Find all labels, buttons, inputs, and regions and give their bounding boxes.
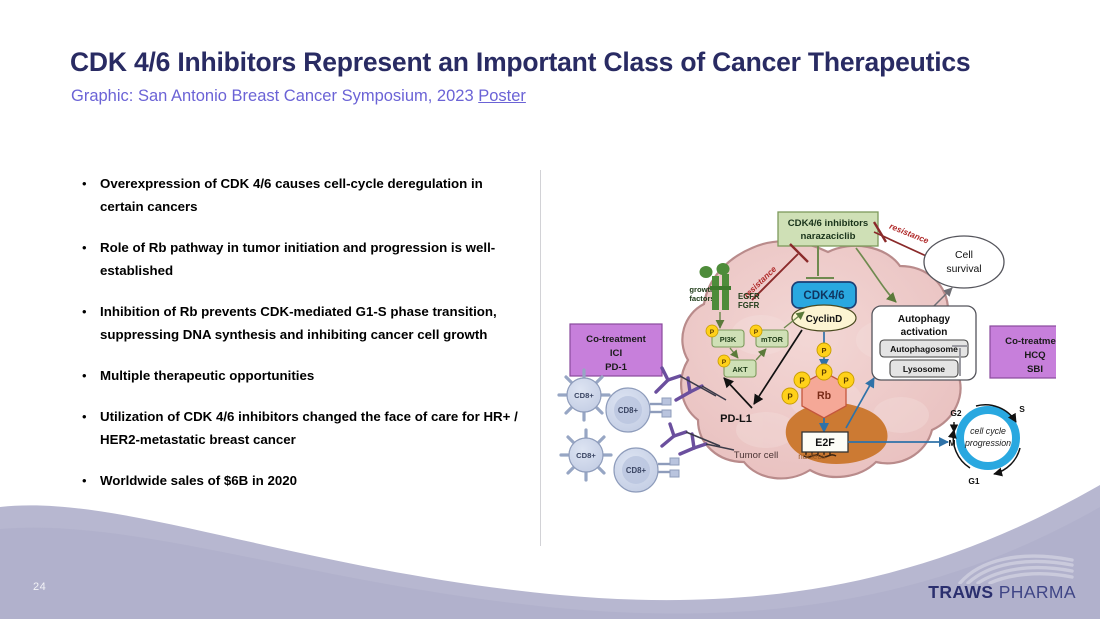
cotreatment-right-line2: HCQ [1024,350,1046,361]
bullet-marker-icon: • [78,364,100,387]
subtitle-text: Graphic: San Antonio Breast Cancer Sympo… [71,87,478,105]
list-item: • Worldwide sales of $6B in 2020 [78,469,518,492]
nucleus-label: nucleus [798,452,826,461]
cdk46-node: CDK4/6 [792,282,856,308]
cotreatment-right-box: Co-treatment HCQ SBI [990,326,1056,378]
phospho-label: P [822,346,827,355]
receptor-line1: EGFR [738,292,760,301]
list-item: • Inhibition of Rb prevents CDK-mediated… [78,300,518,346]
bullet-list: • Overexpression of CDK 4/6 causes cell-… [78,172,518,510]
phase-s-label: S [1019,404,1025,414]
mtor-label: mTOR [761,335,784,344]
inhibitor-box-line1: CDK4/6 inhibitors [788,218,869,229]
pdl1-label: PD-L1 [720,413,752,425]
list-item: • Role of Rb pathway in tumor initiation… [78,236,518,282]
cell-survival-line2: survival [946,264,981,275]
rb-label: Rb [817,390,832,402]
page-number: 24 [33,581,46,593]
cotreatment-left-line1: Co-treatment [586,334,647,345]
list-item: • Overexpression of CDK 4/6 causes cell-… [78,172,518,218]
bullet-text: Inhibition of Rb prevents CDK-mediated G… [100,300,518,346]
phase-g1-label: G1 [968,476,980,486]
tcell-4: CD8+ [614,448,679,492]
bullet-text: Overexpression of CDK 4/6 causes cell-cy… [100,172,518,218]
cell-survival-line1: Cell [955,250,973,261]
list-item: • Utilization of CDK 4/6 inhibitors chan… [78,405,518,451]
phase-m-label: M [949,438,956,448]
receptor-line2: FGFR [738,301,760,310]
akt-label: AKT [732,365,748,374]
logo-swoosh-icon [954,552,1076,584]
cotreatment-left-line2: ICI [610,348,623,359]
phospho-label: P [754,329,759,336]
page-title: CDK 4/6 Inhibitors Represent an Importan… [70,47,970,78]
list-item: • Multiple therapeutic opportunities [78,364,518,387]
bullet-marker-icon: • [78,300,100,323]
phospho-on-cyclind-rb-axis: P [817,343,831,357]
cell-survival-node: Cell survival [924,236,1004,288]
lysosome-label: Lysosome [903,364,945,374]
phospho-label: P [821,369,827,378]
cdk46-label: CDK4/6 [803,289,845,302]
bullet-marker-icon: • [78,405,100,428]
tcell-label: CD8+ [574,391,594,400]
cell-cycle-progression: cell cycle progression G2 M G1 S [949,404,1026,486]
phase-g2-label: G2 [950,408,962,418]
phospho-label: P [799,377,805,386]
autophagosome-label: Autophagosome [890,344,958,354]
cotreatment-left-box: Co-treatment ICI PD-1 [570,324,662,376]
phospho-label: P [843,377,849,386]
bullet-marker-icon: • [78,236,100,259]
bullet-text: Multiple therapeutic opportunities [100,364,518,387]
bullet-marker-icon: • [78,172,100,195]
cellcycle-line2: progression [964,438,1011,448]
cyclind-label: CyclinD [806,314,842,325]
tcell-3: CD8+ [561,430,611,480]
content-divider [540,170,541,546]
tcell-label: CD8+ [576,451,596,460]
bullet-marker-icon: • [78,469,100,492]
autophagy-line2: activation [901,327,948,338]
tcell-2: CD8+ [606,388,671,432]
cellcycle-line1: cell cycle [970,426,1006,436]
bullet-text: Worldwide sales of $6B in 2020 [100,469,518,492]
growth-factors-line2: factors [689,294,714,303]
phospho-label: P [710,329,715,336]
logo-word-pharma: PHARMA [993,582,1076,602]
inhibitor-box-line2: narazaciclib [801,231,856,242]
pathway-diagram-figure: nucleus CDK4/6 inhibitors narazaciclib r… [556,200,1056,500]
cotreatment-right-line3: SBI [1027,364,1043,375]
tcell-1: CD8+ [559,370,609,420]
poster-link[interactable]: Poster [478,87,526,105]
logo-word-traws: TRAWS [928,582,993,602]
tcell-label: CD8+ [618,406,639,415]
e2f-label: E2F [815,437,835,449]
cdk46-inhibitors-box: CDK4/6 inhibitors narazaciclib [778,212,878,246]
tumor-cell-label: Tumor cell [734,450,778,461]
slide-canvas: 24 TRAWS PHARMA CDK 4/6 Inhibitors Repre… [0,0,1100,619]
e2f-node: E2F [802,432,848,452]
cotreatment-right-line1: Co-treatment [1005,336,1056,347]
page-subtitle: Graphic: San Antonio Breast Cancer Sympo… [71,87,526,106]
logo-wordmark: TRAWS PHARMA [928,582,1076,603]
bullet-text: Role of Rb pathway in tumor initiation a… [100,236,518,282]
traws-pharma-logo: TRAWS PHARMA [928,552,1076,603]
pi3k-label: PI3K [720,335,737,344]
phospho-label: P [722,359,727,366]
cyclind-node: CyclinD [792,305,856,331]
bullet-text: Utilization of CDK 4/6 inhibitors change… [100,405,518,451]
tcell-label: CD8+ [626,466,647,475]
phospho-label: P [787,393,793,402]
autophagy-line1: Autophagy [898,314,951,325]
cotreatment-left-line3: PD-1 [605,362,628,373]
